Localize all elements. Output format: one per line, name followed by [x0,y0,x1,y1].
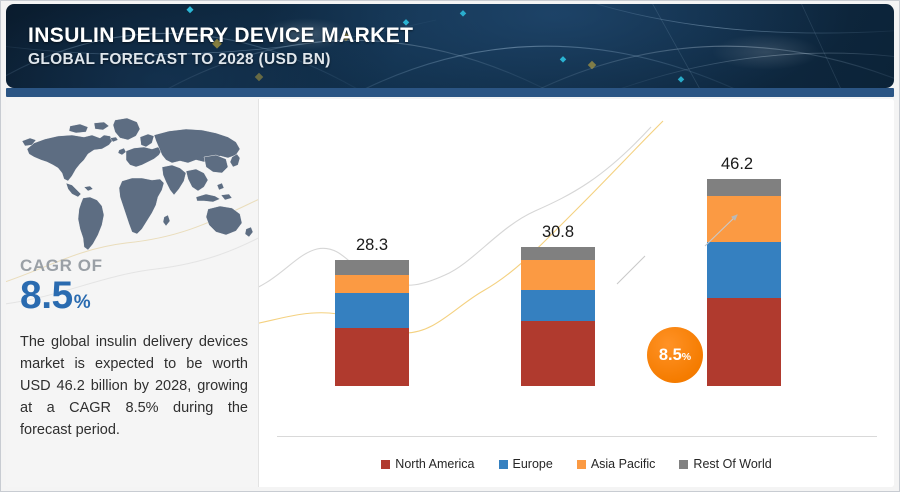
segment-rest-of-world-2028[interactable] [707,179,781,196]
cagr-block: CAGR OF 8.5 % [20,257,250,315]
chart-panel: 28.3 2022 30.8 [259,99,894,487]
header-text-block: INSULIN DELIVERY DEVICE MARKET GLOBAL FO… [28,24,413,69]
legend-swatch-icon-asia-pacific [577,460,586,469]
bar-total-label-2022: 28.3 [312,236,432,255]
chart-legend: North America Europe Asia Pacific Rest O… [259,457,894,471]
segment-rest-of-world-2022[interactable] [335,260,409,275]
legend-label-asia-pacific: Asia Pacific [591,457,656,471]
legend-label-europe: Europe [513,457,553,471]
legend-item-europe[interactable]: Europe [499,457,553,471]
segment-north-america-2028[interactable] [707,298,781,386]
segment-asia-pacific-2022[interactable] [335,275,409,293]
x-axis-line [277,436,877,437]
page-title: INSULIN DELIVERY DEVICE MARKET [28,24,413,48]
plot-area: 28.3 2022 30.8 [259,99,894,437]
segment-asia-pacific-2023[interactable] [521,260,595,290]
cagr-percent-symbol: % [74,293,91,312]
segment-europe-2028[interactable] [707,242,781,298]
legend-swatch-icon-europe [499,460,508,469]
legend-item-north-america[interactable]: North America [381,457,474,471]
cagr-callout-bubble[interactable]: 8.5 % [647,327,703,383]
bar-total-label-2028: 46.2 [721,155,841,174]
segment-europe-2023[interactable] [521,290,595,321]
bar-stack-2022[interactable] [335,260,409,386]
body-area: CAGR OF 8.5 % The global insulin deliver… [6,99,894,487]
header-banner: INSULIN DELIVERY DEVICE MARKET GLOBAL FO… [6,4,894,88]
cagr-value: 8.5 [20,276,73,315]
bar-total-label-2023: 30.8 [498,223,618,242]
segment-north-america-2022[interactable] [335,328,409,386]
market-description: The global insulin delivery devices mark… [20,331,248,441]
segment-asia-pacific-2028[interactable] [707,196,781,242]
segment-europe-2022[interactable] [335,293,409,328]
legend-label-rest-of-world: Rest Of World [693,457,771,471]
cagr-callout-value: 8.5 [659,327,682,383]
page-subtitle: GLOBAL FORECAST TO 2028 (USD BN) [28,51,413,70]
legend-item-asia-pacific[interactable]: Asia Pacific [577,457,656,471]
cagr-value-row: 8.5 % [20,276,250,315]
legend-swatch-icon-rest-of-world [679,460,688,469]
world-map [14,105,254,253]
segment-north-america-2023[interactable] [521,321,595,386]
bar-stack-2023[interactable] [521,247,595,386]
legend-item-rest-of-world[interactable]: Rest Of World [679,457,771,471]
stacked-bar-chart: 28.3 2022 30.8 [259,99,894,487]
cagr-callout-percent: % [682,329,691,385]
sidebar-panel: CAGR OF 8.5 % The global insulin deliver… [6,99,259,487]
cagr-label: CAGR OF [20,257,250,274]
segment-rest-of-world-2023[interactable] [521,247,595,260]
bar-stack-2028[interactable] [707,179,781,386]
legend-label-north-america: North America [395,457,474,471]
infographic-page: INSULIN DELIVERY DEVICE MARKET GLOBAL FO… [0,0,900,492]
header-divider-strip [6,88,894,97]
legend-swatch-icon-north-america [381,460,390,469]
